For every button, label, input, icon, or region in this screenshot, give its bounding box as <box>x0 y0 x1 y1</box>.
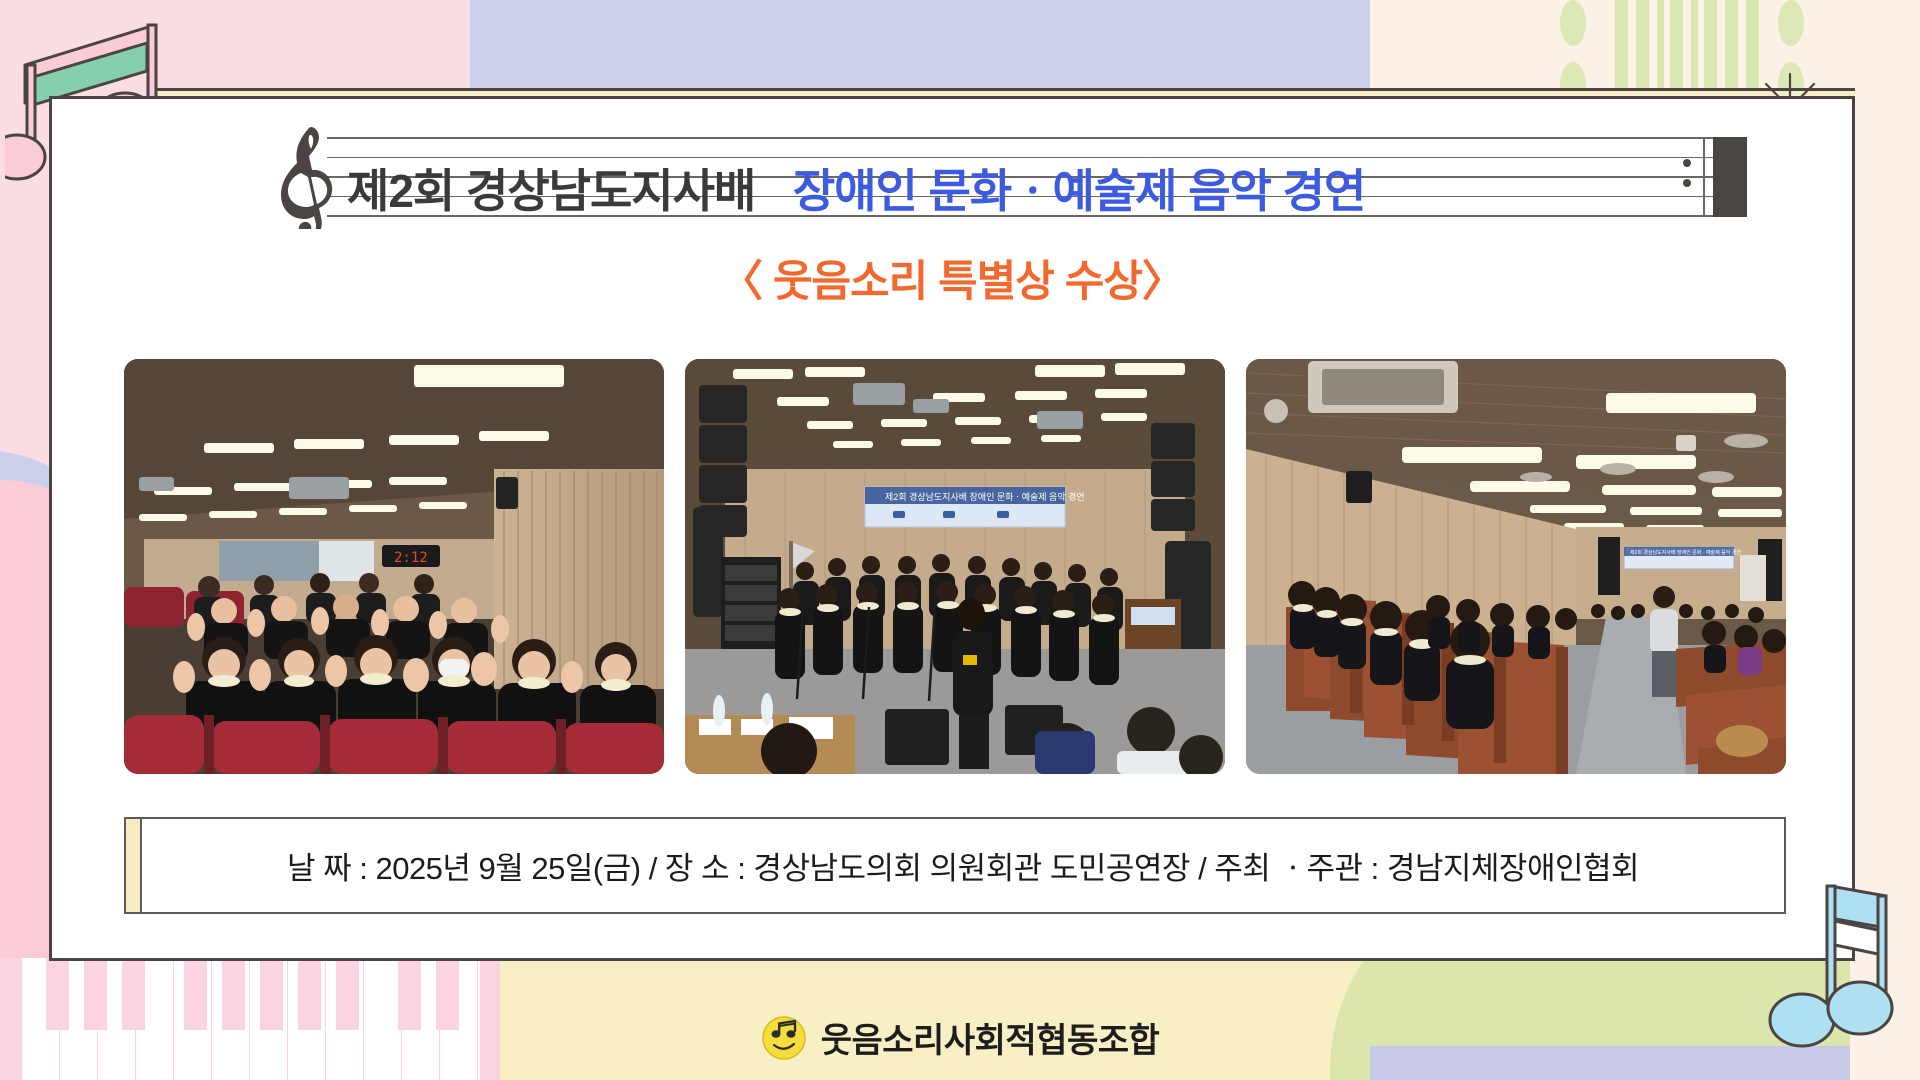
event-poster: 제2회 경상남도지사배 장애인 문화ㆍ예술제 음악 경연 〈 웃음소리 특별상 … <box>0 0 1920 1080</box>
title-blue-part: 장애인 문화ㆍ예술제 음악 경연 <box>793 165 1366 217</box>
event-info-text: 날 짜 : 2025년 9월 25일(금) / 장 소 : 경상남도의회 의원회… <box>142 843 1784 888</box>
photo-audience-hand-gestures: 2:12 <box>124 359 664 774</box>
decor-lavender-band-top <box>470 0 1370 94</box>
smiley-music-logo-icon <box>761 1015 807 1061</box>
svg-text:제2회 경상남도지사배 장애인 문화ㆍ예술제 음악 경연: 제2회 경상남도지사배 장애인 문화ㆍ예술제 음악 경연 <box>885 491 1085 502</box>
photo-stage-choir: 제2회 경상남도지사배 장애인 문화ㆍ예술제 음악 경연 <box>685 359 1225 774</box>
repeat-dot-lower <box>1683 179 1691 187</box>
page-title: 제2회 경상남도지사배 장애인 문화ㆍ예술제 음악 경연 <box>347 155 1365 227</box>
info-accent-bar <box>126 819 142 912</box>
footer-org-name: 웃음소리사회적협동조합 <box>821 1013 1160 1062</box>
repeat-dot-upper <box>1683 159 1691 167</box>
repeat-barline-icon <box>1713 137 1747 217</box>
award-subtitle: 〈 웃음소리 특별상 수상〉 <box>52 247 1852 309</box>
poster-card: 제2회 경상남도지사배 장애인 문화ㆍ예술제 음악 경연 〈 웃음소리 특별상 … <box>49 96 1855 961</box>
photo-auditorium-rear-view: 제2회 경상남도지사배 장애인 문화ㆍ예술제 음악 경연 <box>1246 359 1786 774</box>
svg-text:제2회 경상남도지사배 장애인 문화ㆍ예술제 음악 경연: 제2회 경상남도지사배 장애인 문화ㆍ예술제 음악 경연 <box>1630 549 1741 556</box>
title-black-part: 제2회 경상남도지사배 <box>347 165 755 217</box>
thin-barline <box>1703 137 1705 217</box>
footer: 웃음소리사회적협동조합 <box>0 1013 1920 1062</box>
treble-clef-icon <box>275 125 335 229</box>
photo-gallery: 2:12 <box>124 359 1786 774</box>
music-staff: 제2회 경상남도지사배 장애인 문화ㆍ예술제 음악 경연 <box>267 117 1747 227</box>
event-info-box: 날 짜 : 2025년 9월 25일(금) / 장 소 : 경상남도의회 의원회… <box>124 817 1786 914</box>
svg-text:2:12: 2:12 <box>394 550 428 566</box>
